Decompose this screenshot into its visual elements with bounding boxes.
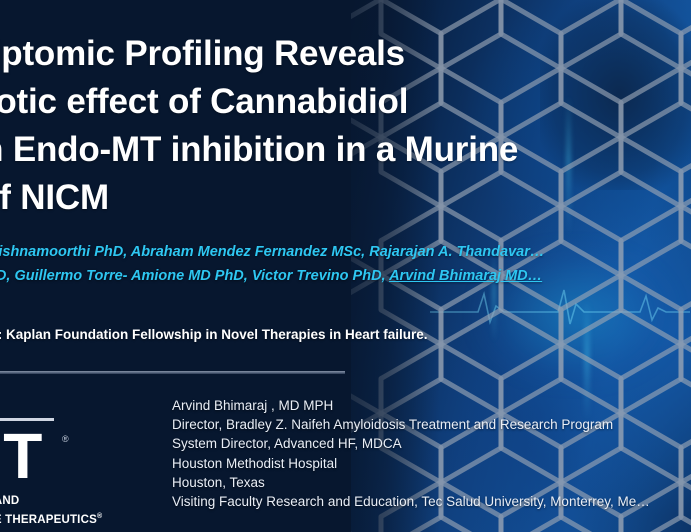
presenter-line-1: Arvind Bhimaraj , MD MPH (172, 396, 650, 415)
logo-subtitle-line-1: …LOGY AND (0, 494, 102, 509)
presenter-line-3: System Director, Advanced HF, MDCA (172, 434, 650, 453)
presentation-title-slide: …scriptomic Profiling Reveals …fibrotic … (0, 0, 691, 532)
logo-letters: HT (0, 424, 41, 488)
logo-subtitle-registered-mark: ® (97, 513, 102, 520)
horizontal-divider (0, 371, 345, 374)
presenting-author-name: Arvind Bhimaraj MD… (389, 268, 542, 284)
presenter-line-6: Visiting Faculty Research and Education,… (172, 492, 650, 511)
logo-subtitle: …LOGY AND …AILURE THERAPEUTICS® (0, 494, 102, 528)
title-line-4: …el of NICM (0, 174, 665, 222)
author-list: …ar Krishnamoorthi PhD, Abraham Mendez F… (0, 240, 691, 288)
author-line-2-text: …o PhD, Guillermo Torre- Amione MD PhD, … (0, 268, 389, 284)
logo-subtitle-line-2: …AILURE THERAPEUTICS® (0, 509, 102, 528)
presenter-line-5: Houston, Texas (172, 473, 650, 492)
title-line-3: …ugh Endo-MT inhibition in a Murine (0, 126, 665, 174)
author-line-1: …ar Krishnamoorthi PhD, Abraham Mendez F… (0, 240, 691, 264)
presenter-line-2: Director, Bradley Z. Naifeh Amyloidosis … (172, 415, 650, 434)
title-line-2: …fibrotic effect of Cannabidiol (0, 78, 665, 126)
author-line-2: …o PhD, Guillermo Torre- Amione MD PhD, … (0, 264, 691, 288)
presenter-line-4: Houston Methodist Hospital (172, 454, 650, 473)
acknowledgment-text: …ment: Kaplan Foundation Fellowship in N… (0, 327, 428, 342)
presenter-affiliation-block: Arvind Bhimaraj , MD MPH Director, Bradl… (172, 396, 650, 511)
logo-subtitle-line-2-text: …AILURE THERAPEUTICS (0, 514, 97, 526)
slide-title: …scriptomic Profiling Reveals …fibrotic … (0, 30, 665, 222)
title-line-1: …scriptomic Profiling Reveals (0, 30, 665, 78)
organization-logo: HT ® …LOGY AND …AILURE THERAPEUTICS® (0, 418, 158, 518)
logo-registered-mark: ® (62, 434, 69, 444)
